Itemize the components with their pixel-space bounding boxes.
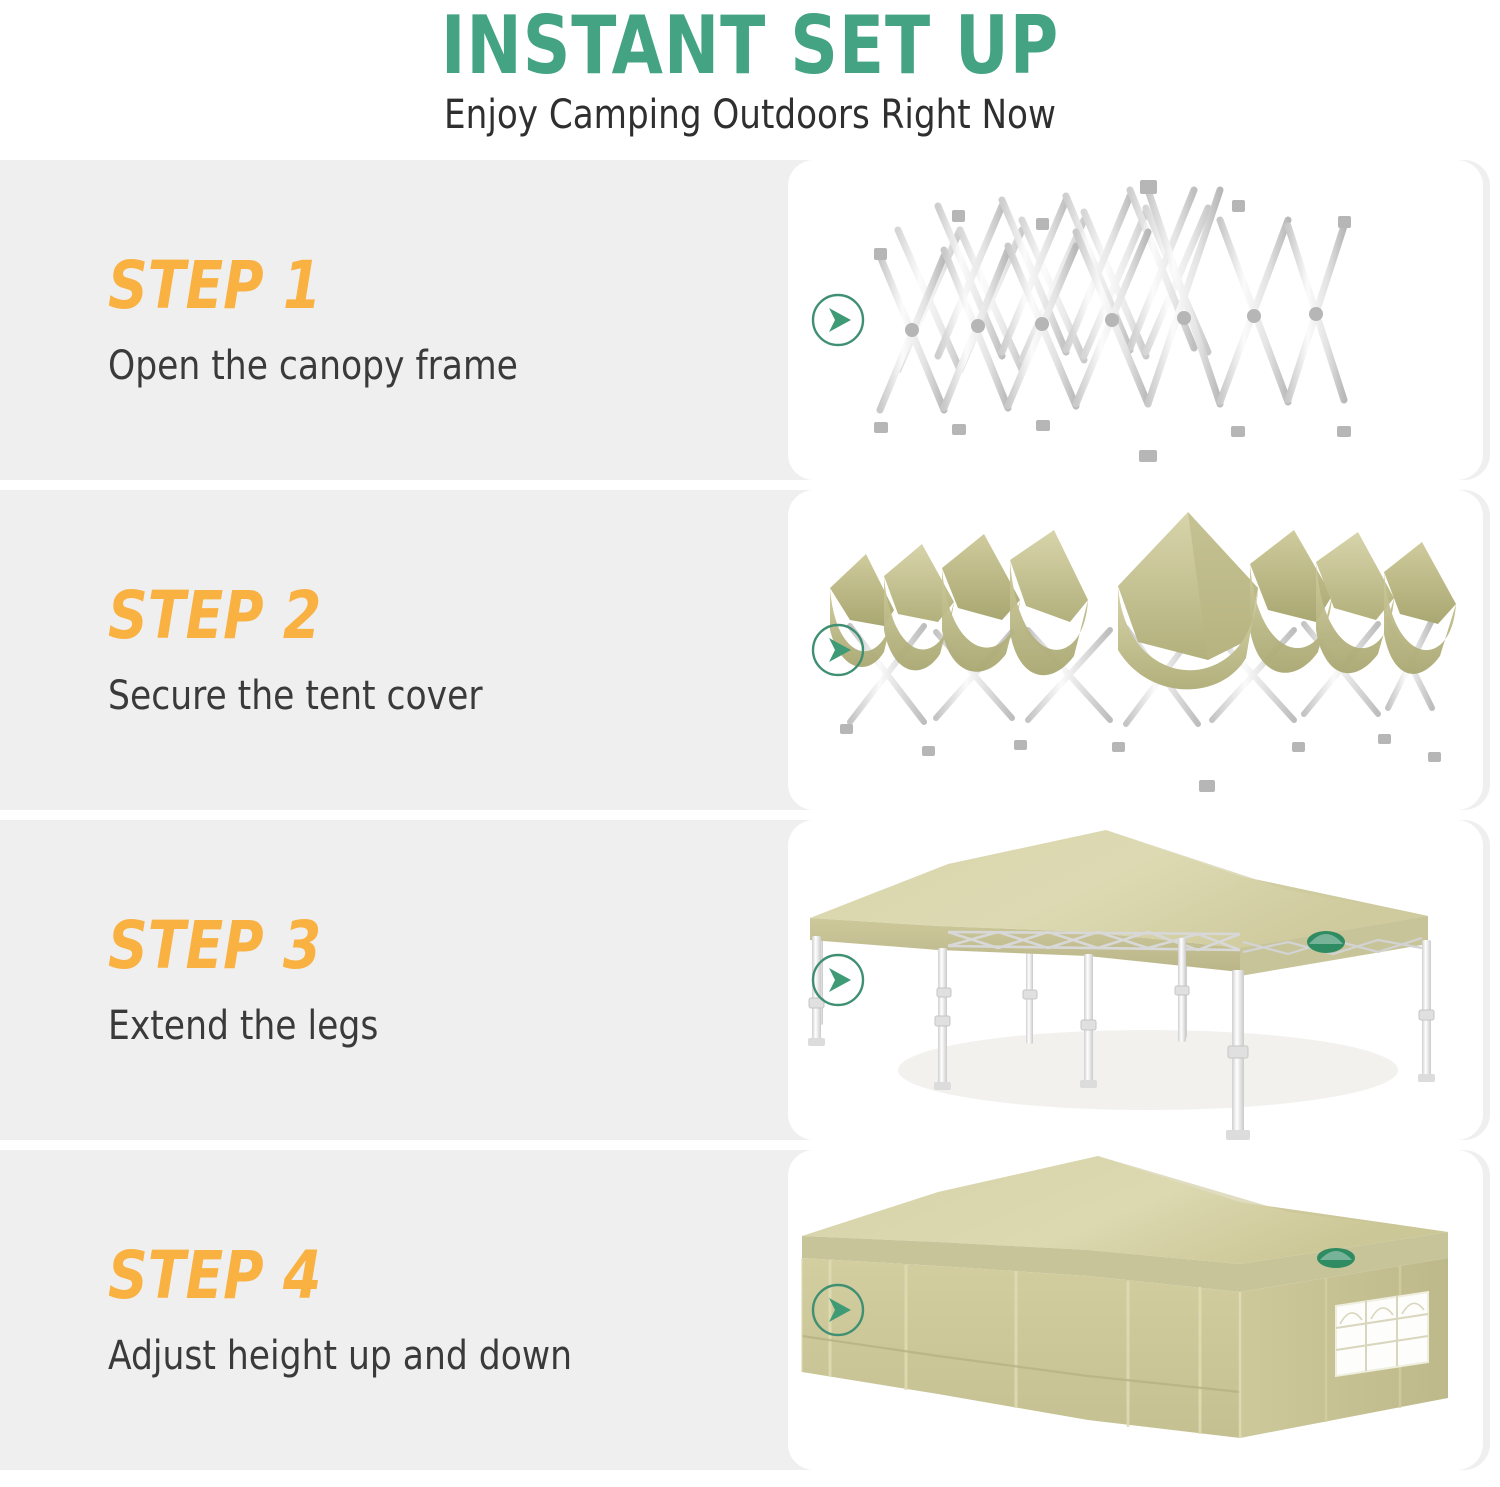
chevron-right-circle-icon	[810, 952, 866, 1008]
chevron-right-circle-icon	[810, 622, 866, 678]
step-text-block-1: STEP 1 Open the canopy frame	[108, 160, 748, 480]
step-text-block-3: STEP 3 Extend the legs	[108, 820, 748, 1140]
step-label-2: STEP 2	[108, 581, 321, 651]
canopy-legs-extended-image	[788, 820, 1483, 1140]
canopy-frame-unfolded-image	[788, 160, 1483, 480]
brand-logo-badge	[1307, 931, 1345, 953]
step-row-3: STEP 3 Extend the legs	[0, 820, 1500, 1140]
step-image-card-3	[788, 820, 1483, 1140]
step-description-2: Secure the tent cover	[108, 673, 483, 719]
step-label-3: STEP 3	[108, 911, 321, 981]
page-subtitle: Enjoy Camping Outdoors Right Now	[38, 90, 1463, 140]
step-row-1: STEP 1 Open the canopy frame	[0, 160, 1500, 480]
step-arrow-4	[810, 1282, 866, 1338]
canopy-cover-attached-image	[788, 490, 1483, 810]
step-arrow-3	[810, 952, 866, 1008]
header: INSTANT SET UP Enjoy Camping Outdoors Ri…	[0, 0, 1500, 160]
step-arrow-1	[810, 292, 866, 348]
step-row-4: STEP 4 Adjust height up and down	[0, 1150, 1500, 1470]
step-description-4: Adjust height up and down	[108, 1333, 572, 1379]
chevron-right-circle-icon	[810, 1282, 866, 1338]
brand-logo-badge	[1317, 1248, 1355, 1268]
step-description-1: Open the canopy frame	[108, 343, 518, 389]
step-text-block-4: STEP 4 Adjust height up and down	[108, 1150, 748, 1470]
canopy-with-sidewalls-image	[788, 1150, 1483, 1470]
step-image-card-1	[788, 160, 1483, 480]
step-label-1: STEP 1	[108, 251, 321, 321]
step-row-2: STEP 2 Secure the tent cover	[0, 490, 1500, 810]
step-image-card-4	[788, 1150, 1483, 1470]
chevron-right-circle-icon	[810, 292, 866, 348]
sidewall-window	[1336, 1292, 1428, 1376]
steps-list: STEP 1 Open the canopy frame	[0, 160, 1500, 1470]
step-arrow-2	[810, 622, 866, 678]
step-image-card-2	[788, 490, 1483, 810]
step-label-4: STEP 4	[108, 1241, 321, 1311]
page-title: INSTANT SET UP	[60, 2, 1440, 90]
instant-setup-infographic: INSTANT SET UP Enjoy Camping Outdoors Ri…	[0, 0, 1500, 1487]
step-description-3: Extend the legs	[108, 1003, 378, 1049]
step-text-block-2: STEP 2 Secure the tent cover	[108, 490, 748, 810]
